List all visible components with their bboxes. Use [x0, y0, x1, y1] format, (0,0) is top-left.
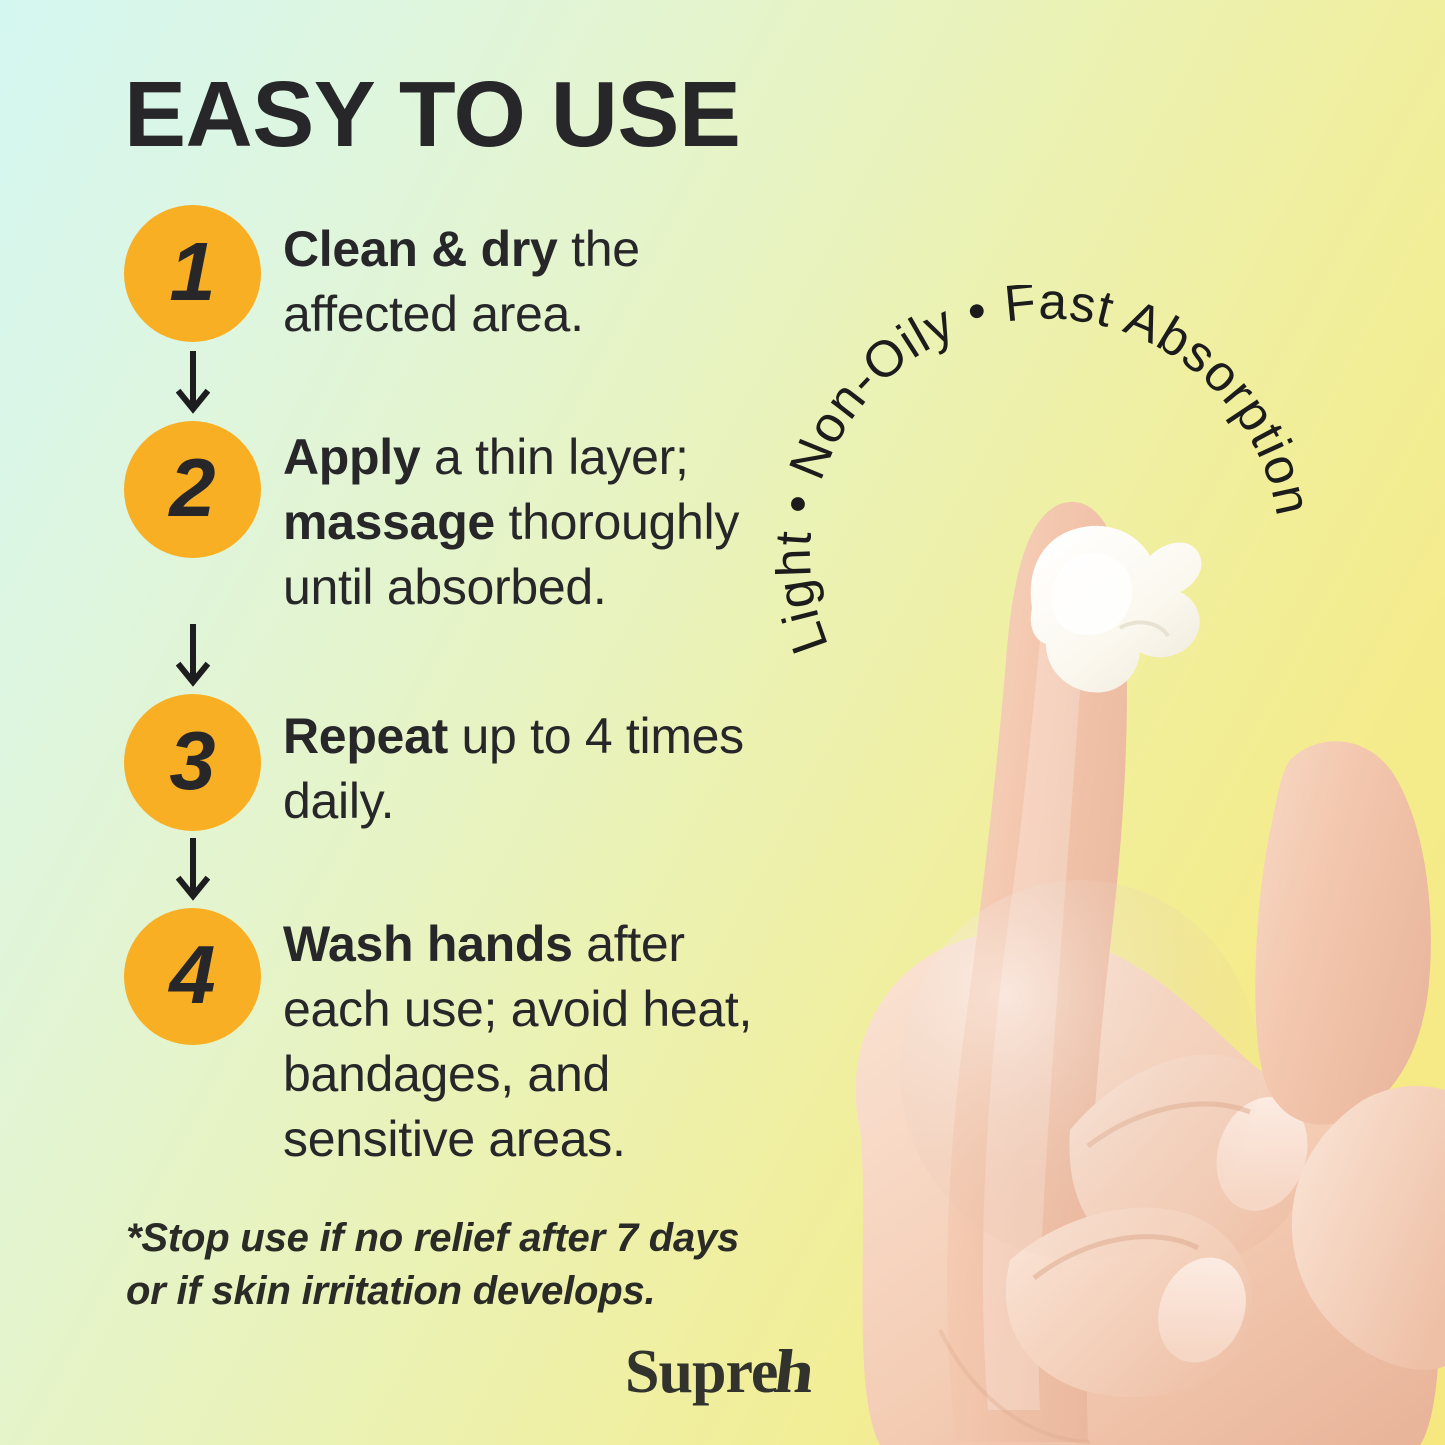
step-number-3: 3: [169, 719, 215, 802]
hand-photo: [820, 430, 1445, 1445]
step-item-3: 3 Repeat up to 4 times daily.: [124, 694, 764, 834]
page-title: EASY TO USE: [124, 68, 740, 161]
brand-logo: Supreh: [625, 1341, 811, 1403]
step-text-1: Clean & dry the affected area.: [283, 205, 764, 347]
brand-logo-mark: h: [771, 1341, 817, 1403]
step-bold-lead-2: Apply: [283, 429, 420, 485]
step-text-3: Repeat up to 4 times daily.: [283, 694, 764, 834]
brand-logo-text: Supre: [625, 1338, 777, 1406]
footnote-line-1: *Stop use if no relief after 7 days: [126, 1212, 826, 1265]
step-number-badge-3: 3: [124, 694, 261, 831]
step-number-badge-1: 1: [124, 205, 261, 342]
step-bold-lead-4: Wash hands: [283, 916, 573, 972]
step-number-2: 2: [169, 446, 215, 529]
step-item-2: 2 Apply a thin layer;massage thoroughly …: [124, 421, 764, 620]
step-number-badge-4: 4: [124, 908, 261, 1045]
footnote: *Stop use if no relief after 7 days or i…: [126, 1212, 826, 1318]
step-bold-second-2: massage: [283, 494, 495, 550]
step-item-4: 4 Wash hands after each use; avoid heat,…: [124, 908, 764, 1172]
step-arrow-2: [124, 620, 261, 694]
step-arrow-3: [124, 834, 261, 908]
product-infographic: Light • Non-Oily • Fast Absorption EASY …: [0, 0, 1445, 1445]
footnote-line-2: or if skin irritation develops.: [126, 1265, 826, 1318]
step-bold-lead-1: Clean & dry: [283, 221, 558, 277]
steps-list: 1 Clean & dry the affected area. 2 Apply…: [124, 205, 764, 1172]
step-item-1: 1 Clean & dry the affected area.: [124, 205, 764, 347]
step-text-4: Wash hands after each use; avoid heat, b…: [283, 908, 764, 1172]
step-number-1: 1: [169, 230, 215, 313]
step-text-2: Apply a thin layer;massage thoroughly un…: [283, 421, 764, 620]
step-number-badge-2: 2: [124, 421, 261, 558]
step-bold-lead-3: Repeat: [283, 708, 448, 764]
step-number-4: 4: [169, 933, 215, 1016]
step-arrow-1: [124, 347, 261, 421]
